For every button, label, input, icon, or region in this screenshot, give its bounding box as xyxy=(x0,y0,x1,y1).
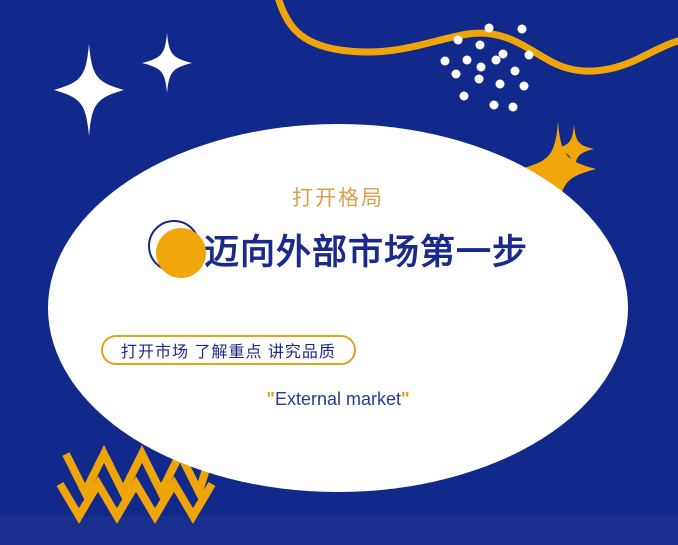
page-title: 迈向外部市场第一步 xyxy=(204,235,528,270)
feature-pill-label: 打开市场 了解重点 讲究品质 xyxy=(121,338,336,362)
eyebrow-text: 打开格局 xyxy=(48,182,628,212)
poster-canvas: 打开格局 迈向外部市场第一步 打开市场 了解重点 讲究品质 "External … xyxy=(0,0,678,545)
close-quote-mark: " xyxy=(401,389,410,409)
circle-filled-icon xyxy=(156,228,206,278)
card-content: 打开格局 迈向外部市场第一步 打开市场 了解重点 讲究品质 "External … xyxy=(48,124,628,492)
tagline: "External market" xyxy=(48,389,628,410)
badge-mark xyxy=(148,220,212,284)
headline-row: 迈向外部市场第一步 xyxy=(48,220,628,284)
background-bottom-band xyxy=(0,516,678,545)
feature-pill: 打开市场 了解重点 讲究品质 xyxy=(101,335,356,365)
tagline-text: External market xyxy=(275,389,401,409)
open-quote-mark: " xyxy=(266,389,275,409)
